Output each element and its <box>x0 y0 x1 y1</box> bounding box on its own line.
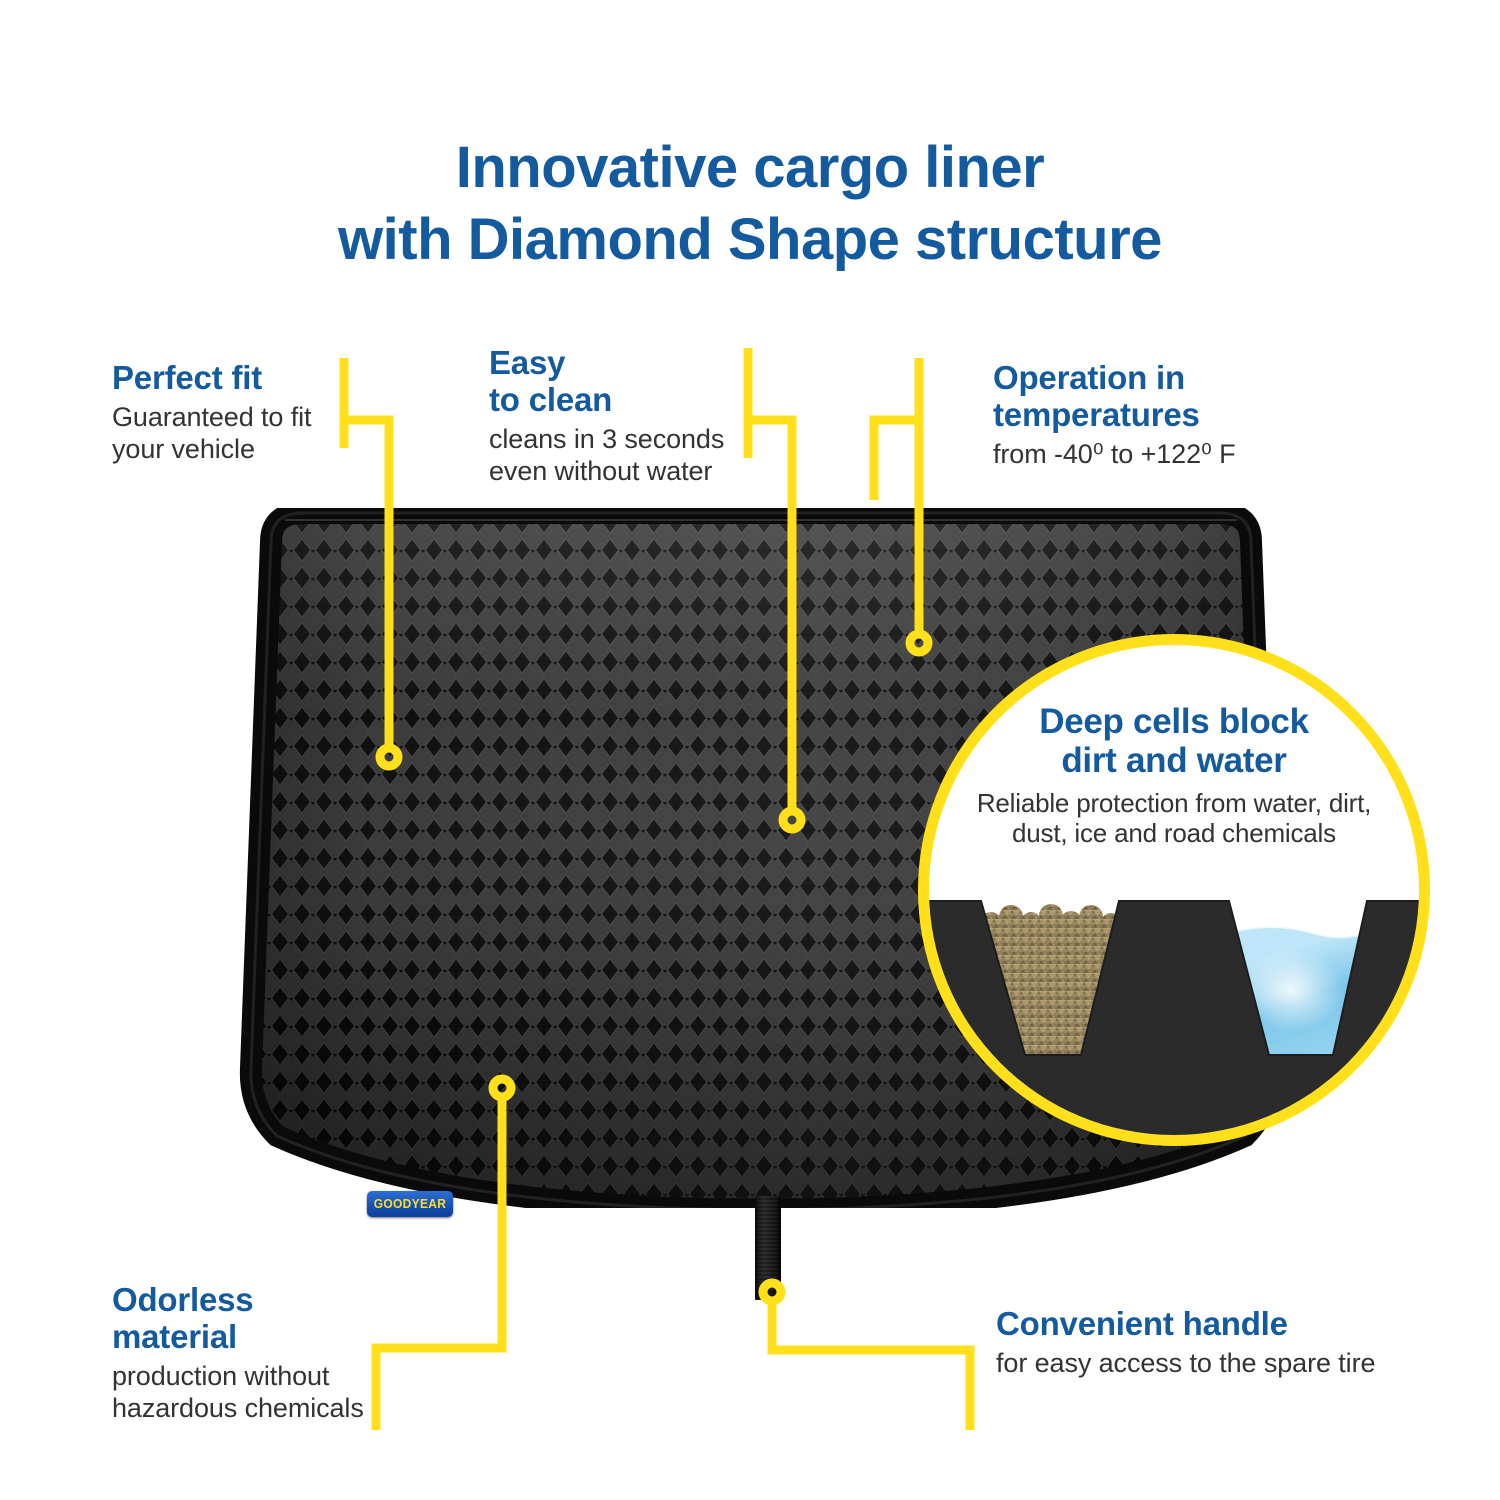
deep-cells-magnifier-callout: Deep cells block dirt and water Reliable… <box>918 634 1430 1146</box>
perfect-fit-sub-line-1: Guaranteed to fit <box>112 402 311 432</box>
callout-easy-to-clean-subtext: cleans in 3 seconds even without water <box>489 424 769 488</box>
easy-to-clean-sub-line-2: even without water <box>489 456 712 486</box>
callout-operation-subtext: from -40⁰ to +122⁰ F <box>993 439 1323 471</box>
title-line-2: with Diamond Shape structure <box>0 204 1500 276</box>
magnifier-subtext: Reliable protection from water, dirt, du… <box>955 788 1393 848</box>
spare-tire-handle-strap <box>755 1196 781 1300</box>
magnifier-heading-line-1: Deep cells block <box>1039 702 1309 741</box>
odorless-head-line-2: material <box>112 1318 237 1355</box>
callout-handle-subtext: for easy access to the spare tire <box>996 1348 1396 1380</box>
easy-to-clean-head-line-2: to clean <box>489 381 612 418</box>
magnifier-text-block: Deep cells block dirt and water Reliable… <box>929 703 1419 848</box>
callout-operation-in-temperatures: Operation in temperatures from -40⁰ to +… <box>993 360 1323 471</box>
operation-head-line-2: temperatures <box>993 396 1200 433</box>
magnifier-heading: Deep cells block dirt and water <box>955 703 1393 780</box>
page-title: Innovative cargo liner with Diamond Shap… <box>0 132 1500 276</box>
callout-perfect-fit-subtext: Guaranteed to fit your vehicle <box>112 402 412 466</box>
goodyear-brand-badge: GOODYEAR <box>367 1191 453 1217</box>
cross-section-svg <box>929 883 1419 1135</box>
cell-cross-section-diagram <box>929 883 1419 1135</box>
odorless-sub-line-2: hazardous chemicals <box>112 1393 364 1423</box>
magnifier-heading-line-2: dirt and water <box>1061 741 1286 780</box>
magnifier-subtext-line-1: Reliable protection from water, dirt, <box>977 788 1371 818</box>
callout-handle-heading: Convenient handle <box>996 1306 1396 1343</box>
callout-perfect-fit-heading: Perfect fit <box>112 360 412 397</box>
magnifier-subtext-line-2: dust, ice and road chemicals <box>1012 818 1336 848</box>
callout-odorless-heading: Odorless material <box>112 1282 412 1356</box>
callout-convenient-handle: Convenient handle for easy access to the… <box>996 1306 1396 1380</box>
callout-perfect-fit: Perfect fit Guaranteed to fit your vehic… <box>112 360 412 466</box>
goodyear-badge-label: GOODYEAR <box>374 1197 446 1212</box>
callout-odorless-subtext: production without hazardous chemicals <box>112 1361 412 1425</box>
connector-convenient-handle <box>772 1301 970 1430</box>
easy-to-clean-sub-line-1: cleans in 3 seconds <box>489 424 724 454</box>
title-line-1: Innovative cargo liner <box>456 135 1045 200</box>
infographic-canvas: Innovative cargo liner with Diamond Shap… <box>0 0 1500 1500</box>
easy-to-clean-head-line-1: Easy <box>489 344 565 381</box>
odorless-head-line-1: Odorless <box>112 1281 253 1318</box>
odorless-sub-line-1: production without <box>112 1361 329 1391</box>
connector-operation-jog <box>874 420 919 500</box>
callout-operation-heading: Operation in temperatures <box>993 360 1323 434</box>
callout-odorless-material: Odorless material production without haz… <box>112 1282 412 1425</box>
operation-head-line-1: Operation in <box>993 359 1185 396</box>
perfect-fit-sub-line-2: your vehicle <box>112 434 255 464</box>
callout-easy-to-clean-heading: Easy to clean <box>489 345 769 419</box>
callout-easy-to-clean: Easy to clean cleans in 3 seconds even w… <box>489 345 769 488</box>
